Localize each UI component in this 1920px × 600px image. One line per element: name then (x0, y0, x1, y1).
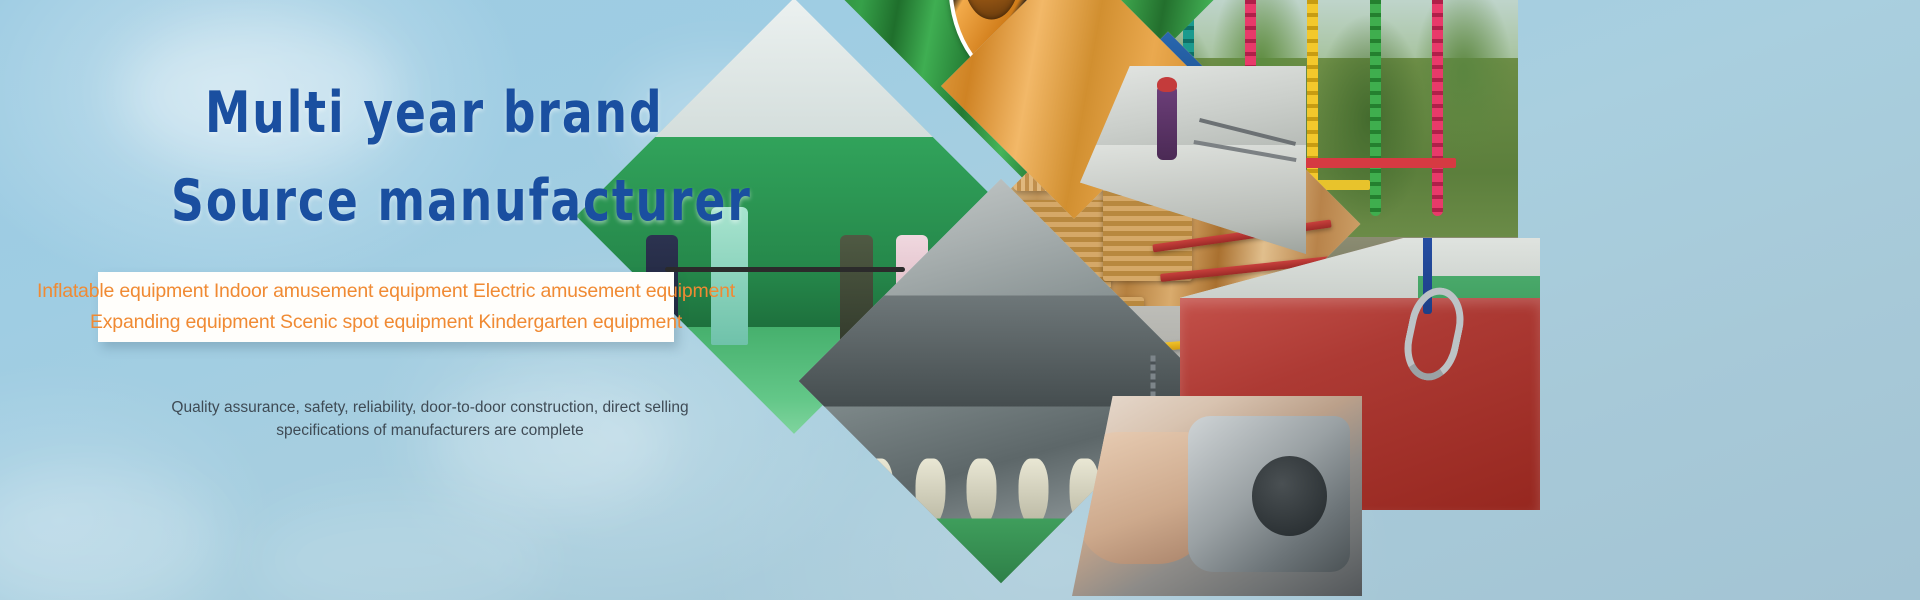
category-line-2: Expanding equipment Scenic spot equipmen… (90, 307, 682, 338)
photo-hand-coupling (1072, 396, 1362, 596)
walkway-worker (1157, 85, 1177, 160)
coupling-bore (1252, 456, 1327, 536)
headline-line-2: Source manufacturer (171, 158, 826, 246)
hand-coupling-scene (1072, 396, 1362, 596)
text-column: Multi year brand Source manufacturer Inf… (0, 0, 860, 600)
category-box: Inflatable equipment Indoor amusement eq… (98, 272, 674, 342)
category-line-1: Inflatable equipment Indoor amusement eq… (37, 276, 735, 307)
chain-pink-2 (1432, 0, 1443, 216)
chain-green (1370, 0, 1381, 216)
machine-bulb-3 (967, 458, 997, 527)
subtext-line-2: specifications of manufacturers are comp… (150, 419, 710, 442)
promo-banner: Multi year brand Source manufacturer Inf… (0, 0, 1920, 600)
worker-helmet (1157, 77, 1177, 92)
machine-bulb-4 (1018, 458, 1048, 527)
headline: Multi year brand Source manufacturer (205, 70, 826, 246)
beam-red (1300, 158, 1456, 168)
steel-rod-1 (1199, 118, 1296, 146)
subtext: Quality assurance, safety, reliability, … (150, 396, 710, 442)
headline-line-1: Multi year brand (205, 70, 826, 158)
photo-collage (680, 0, 1920, 600)
subtext-line-1: Quality assurance, safety, reliability, … (150, 396, 710, 419)
